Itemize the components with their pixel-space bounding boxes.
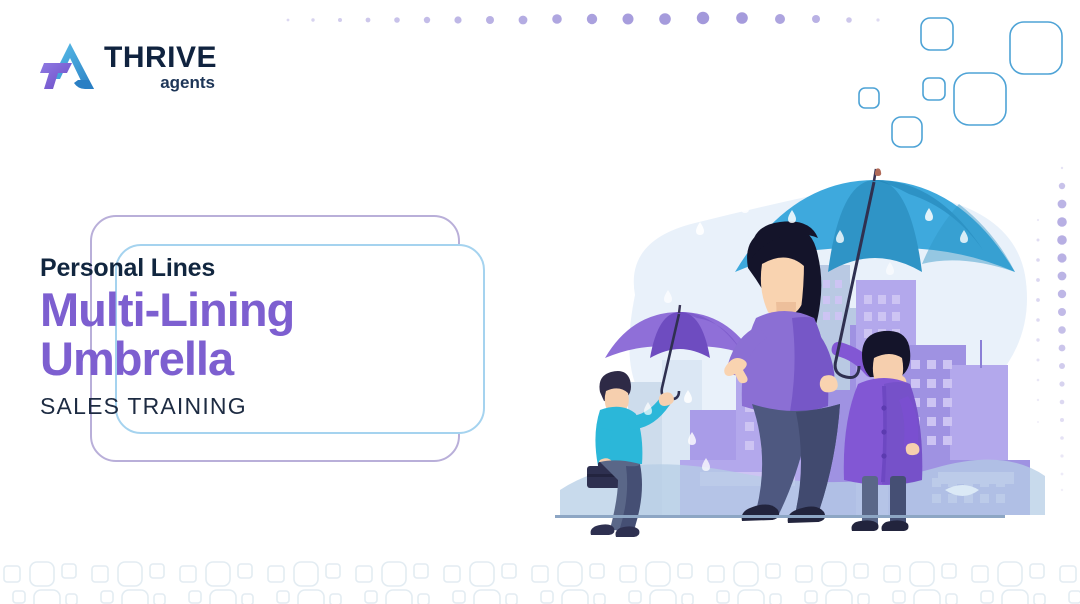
title-eyebrow: Personal Lines: [40, 255, 470, 283]
bottom-square-pattern-decoration: [0, 544, 1080, 604]
rain-umbrella-illustration: [540, 160, 1050, 540]
brand-logo: THRIVE agents: [40, 36, 270, 98]
title-headline-line-1: Multi-Lining: [40, 283, 294, 336]
top-right-squares-decoration: [840, 0, 1080, 160]
thrive-a-mark-icon: [40, 39, 98, 95]
title-subtitle: SALES TRAINING: [40, 394, 470, 419]
slide-canvas: THRIVE agents Personal Lines Multi-Linin…: [0, 0, 1080, 604]
ground-line: [555, 515, 1005, 518]
brand-name-primary: THRIVE: [104, 43, 217, 73]
brand-wordmark: THRIVE agents: [104, 43, 217, 91]
title-text-block: Personal Lines Multi-Lining Umbrella SAL…: [40, 255, 470, 419]
brand-name-secondary: agents: [160, 74, 215, 91]
title-headline: Multi-Lining Umbrella: [40, 285, 470, 385]
top-dot-row-decoration: [0, 0, 1080, 40]
title-headline-line-2: Umbrella: [40, 332, 233, 385]
illustration-svg: [540, 160, 1050, 540]
